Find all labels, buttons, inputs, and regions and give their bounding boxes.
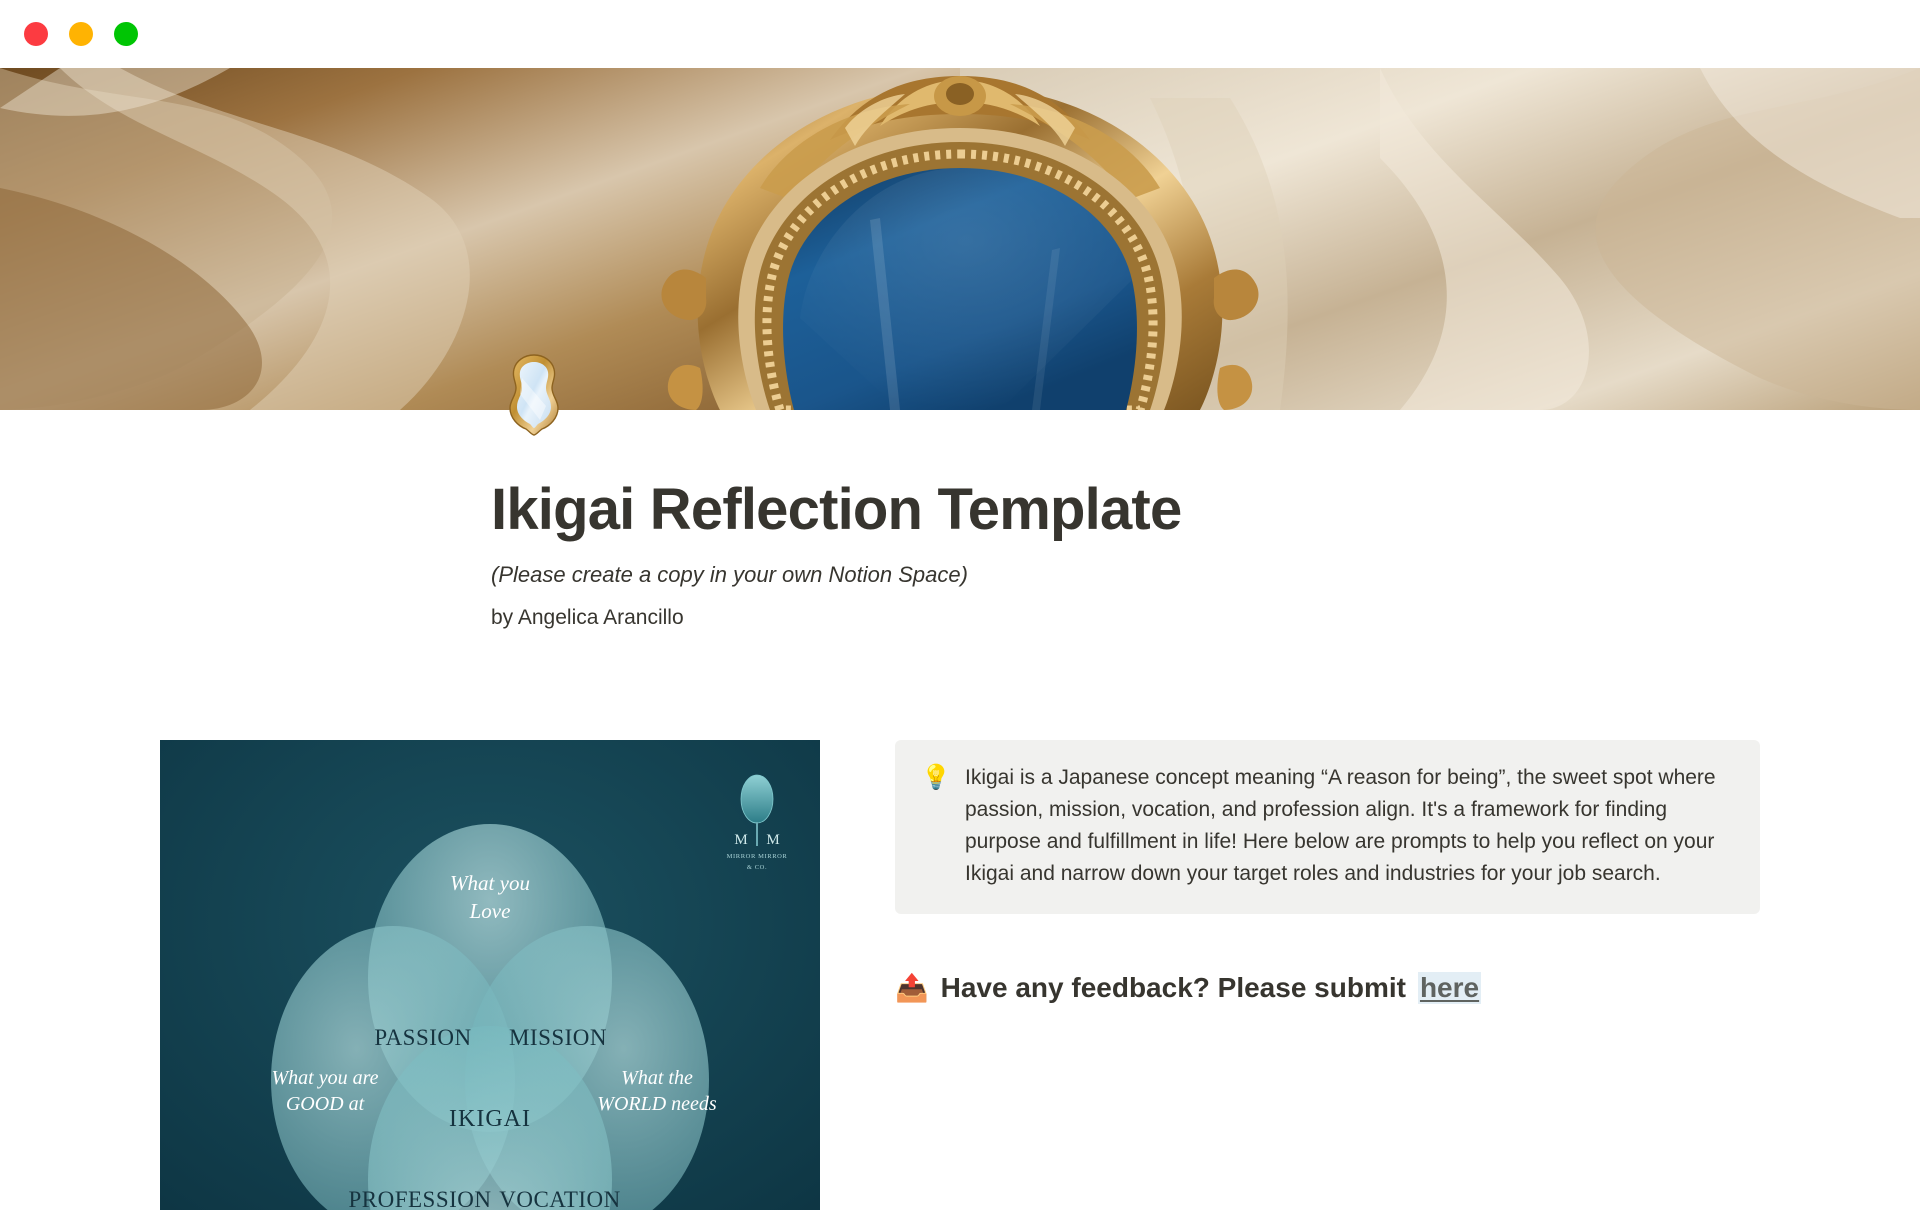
logo-letter-left: M xyxy=(734,832,747,848)
page-byline[interactable]: by Angelica Arancillo xyxy=(491,606,684,630)
body-two-column: What you Love What you are GOOD at What … xyxy=(0,740,1920,1210)
page-subtitle[interactable]: (Please create a copy in your own Notion… xyxy=(491,562,968,588)
venn-label-mission: MISSION xyxy=(509,1025,607,1050)
logo-wordmark-line2: & CO. xyxy=(747,864,767,871)
traffic-light-controls xyxy=(24,22,138,46)
info-callout[interactable]: 💡 Ikigai is a Japanese concept meaning “… xyxy=(895,740,1760,914)
venn-label-good-line1: What you are xyxy=(271,1067,378,1089)
venn-label-love-line1: What you xyxy=(450,871,530,895)
feedback-heading: 📤 Have any feedback? Please submit here xyxy=(895,972,1760,1004)
venn-label-profession: PROFESSION xyxy=(348,1187,491,1210)
venn-label-good-line2: GOOD at xyxy=(286,1093,365,1115)
ikigai-venn-diagram-image[interactable]: What you Love What you are GOOD at What … xyxy=(160,740,820,1210)
logo-wordmark-line1: MIRROR MIRROR xyxy=(727,853,788,860)
venn-label-world-line2: WORLD needs xyxy=(597,1093,717,1115)
feedback-submit-link[interactable]: here xyxy=(1418,972,1481,1004)
venn-label-vocation: VOCATION xyxy=(499,1187,621,1210)
mirror-emoji-icon xyxy=(498,352,570,438)
maximize-button[interactable] xyxy=(114,22,138,46)
page-icon-mirror-emoji[interactable] xyxy=(498,352,570,438)
venn-label-love-line2: Love xyxy=(469,899,511,923)
minimize-button[interactable] xyxy=(69,22,93,46)
outbox-tray-icon: 📤 xyxy=(895,975,929,1002)
window-titlebar xyxy=(0,0,1920,68)
venn-label-passion: PASSION xyxy=(374,1025,471,1050)
venn-label-ikigai: IKIGAI xyxy=(449,1106,531,1132)
right-column: 💡 Ikigai is a Japanese concept meaning “… xyxy=(895,740,1760,1004)
page-cover-image[interactable] xyxy=(0,68,1920,410)
lightbulb-icon: 💡 xyxy=(921,762,949,794)
page-title[interactable]: Ikigai Reflection Template xyxy=(491,476,1181,543)
venn-label-world-line1: What the xyxy=(621,1067,693,1089)
ikigai-venn-illustration: What you Love What you are GOOD at What … xyxy=(160,740,820,1210)
cover-illustration xyxy=(0,68,1920,410)
callout-text: Ikigai is a Japanese concept meaning “A … xyxy=(965,762,1734,890)
close-button[interactable] xyxy=(24,22,48,46)
logo-letter-right: M xyxy=(766,832,779,848)
feedback-text: Have any feedback? Please submit xyxy=(941,972,1406,1004)
